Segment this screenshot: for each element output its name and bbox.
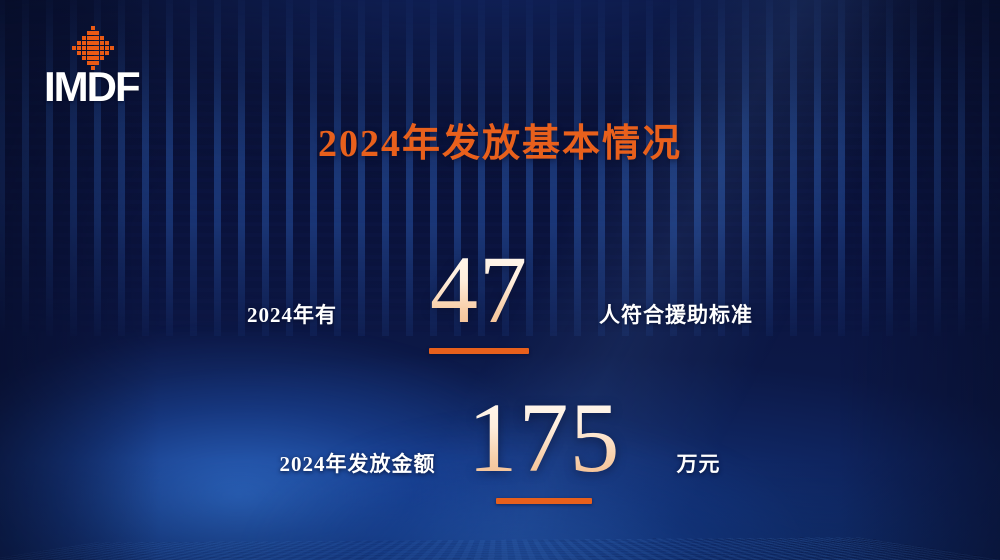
stat-underline: [429, 348, 529, 354]
presentation-slide: IMDF 2024年发放基本情况 2024年有 47 人符合援助标准 2024年…: [0, 0, 1000, 560]
stat-value-group: 47: [429, 246, 529, 354]
stat-label-left: 2024年有: [247, 299, 337, 329]
stat-label-left: 2024年发放金额: [280, 448, 436, 478]
slide-title: 2024年发放基本情况: [0, 112, 1000, 167]
brand-wordmark: IMDF: [44, 66, 139, 108]
stat-label-right: 人符合援助标准: [599, 299, 753, 329]
stat-value-people: 47: [429, 246, 529, 334]
stat-label-right: 万元: [677, 448, 721, 478]
stat-value-group: 175: [468, 392, 621, 504]
brand-logo: IMDF: [44, 26, 174, 108]
stat-row-amount: 2024年发放金额 175 万元: [0, 392, 1000, 504]
stat-value-amount: 175: [468, 392, 621, 484]
stat-row-people: 2024年有 47 人符合援助标准: [0, 246, 1000, 354]
stat-underline: [496, 498, 592, 504]
